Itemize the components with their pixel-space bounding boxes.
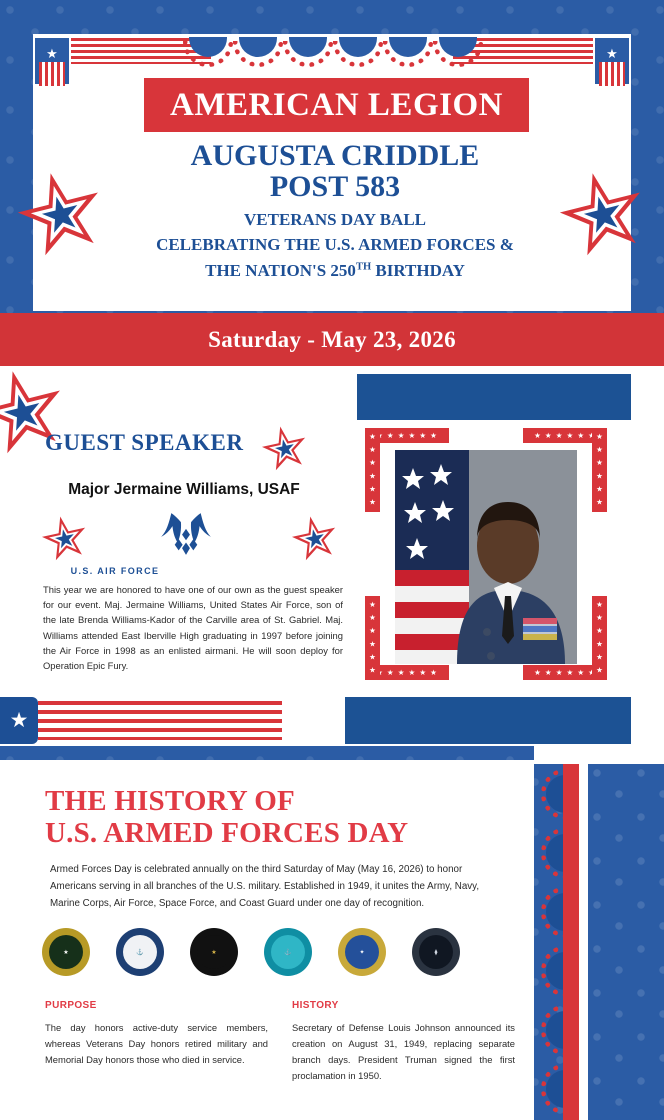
event-name: VETERANS DAY BALL bbox=[100, 207, 570, 233]
decorative-star-small-1 bbox=[258, 422, 313, 477]
air-force-caption: U.S. AIR FORCE bbox=[50, 566, 180, 576]
navy-seal-icon: ⚓ bbox=[116, 928, 164, 976]
purpose-body: The day honors active-duty service membe… bbox=[45, 1020, 268, 1068]
event-subtitle-1: CELEBRATING THE U.S. ARMED FORCES & bbox=[100, 232, 570, 258]
marine-corps-seal-icon: ★ bbox=[190, 928, 238, 976]
post-name-line1: AUGUSTA CRIDDLE bbox=[100, 140, 570, 171]
speaker-biography: This year we are honored to have one of … bbox=[43, 582, 343, 673]
speaker-photo-frame: ★ ★ ★ ★ ★ ★ ★ ★ ★ ★ ★ ★ ★ ★ ★ ★ ★ ★ ★ ★ … bbox=[365, 428, 607, 680]
history-columns: PURPOSE The day honors active-duty servi… bbox=[45, 1000, 515, 1084]
history-body-text: Armed Forces Day is celebrated annually … bbox=[50, 862, 505, 913]
speaker-portrait-photo bbox=[395, 450, 577, 664]
history-col-body: Secretary of Defense Louis Johnson annou… bbox=[292, 1020, 515, 1084]
vertical-white-stripe bbox=[579, 764, 588, 1120]
bunting-swag bbox=[383, 37, 433, 71]
frame-stars-right-top: ★ ★ ★ ★ ★ ★ bbox=[592, 428, 607, 512]
vertical-star-panel bbox=[588, 764, 664, 1120]
us-air-force-logo-icon bbox=[152, 512, 220, 556]
event-date-banner: Saturday - May 23, 2026 bbox=[0, 313, 664, 366]
bunting-corner-right: ★ bbox=[595, 38, 629, 84]
star-icon: ★ bbox=[46, 47, 58, 60]
event-subtitle-2: THE NATION'S 250TH BIRTHDAY bbox=[100, 258, 570, 284]
bunting-swag bbox=[233, 37, 283, 71]
flag-stripe-decoration: ★ bbox=[0, 697, 282, 744]
vertical-red-stripe bbox=[563, 764, 579, 1120]
flag-canton-star-icon: ★ bbox=[0, 697, 38, 744]
purpose-heading: PURPOSE bbox=[45, 1000, 268, 1011]
space-force-seal-icon: ⧫ bbox=[412, 928, 460, 976]
blue-accent-bar-bottom bbox=[345, 697, 631, 744]
bunting-swag bbox=[183, 37, 233, 71]
decorative-star-small-2 bbox=[38, 512, 93, 567]
bottom-panel-top-strip bbox=[534, 746, 664, 764]
history-title-line1: THE HISTORY OF bbox=[45, 786, 495, 818]
bunting-corner-left: ★ bbox=[35, 38, 69, 84]
bunting-swags bbox=[183, 37, 483, 71]
speaker-name: Major Jermaine Williams, USAF bbox=[34, 481, 334, 499]
frame-stars-right-bottom: ★ ★ ★ ★ ★ ★ bbox=[592, 596, 607, 680]
history-col-heading: HISTORY bbox=[292, 1000, 515, 1011]
frame-stars-left-bottom: ★ ★ ★ ★ ★ ★ bbox=[365, 596, 380, 680]
purpose-column: PURPOSE The day honors active-duty servi… bbox=[45, 1000, 268, 1084]
post-name-line2: POST 583 bbox=[100, 171, 570, 203]
history-section-title: THE HISTORY OF U.S. ARMED FORCES DAY bbox=[45, 786, 495, 850]
frame-stars-left-top: ★ ★ ★ ★ ★ ★ bbox=[365, 428, 380, 512]
service-seals-row: ★ ⚓ ★ ⚓ ✦ ⧫ bbox=[42, 928, 512, 976]
history-title-line2: U.S. ARMED FORCES DAY bbox=[45, 818, 495, 850]
guest-speaker-heading: GUEST SPEAKER bbox=[45, 430, 243, 456]
star-icon: ★ bbox=[606, 47, 618, 60]
organization-banner: AMERICAN LEGION bbox=[144, 78, 529, 132]
post-title-block: AUGUSTA CRIDDLE POST 583 VETERANS DAY BA… bbox=[100, 140, 570, 283]
decorative-star-small-3 bbox=[288, 512, 343, 567]
air-force-seal-icon: ✦ bbox=[338, 928, 386, 976]
flag-stripes bbox=[38, 701, 282, 740]
bunting-corner-bars bbox=[599, 62, 625, 86]
organization-title: AMERICAN LEGION bbox=[170, 87, 503, 124]
event-date-text: Saturday - May 23, 2026 bbox=[208, 327, 456, 353]
bunting-corner-bars bbox=[39, 62, 65, 86]
army-seal-icon: ★ bbox=[42, 928, 90, 976]
bunting-swag bbox=[283, 37, 333, 71]
flyer-page: ★ ★ AMERICAN LEGION AUGUSTA CRIDDLE POST… bbox=[0, 0, 664, 1120]
coast-guard-seal-icon: ⚓ bbox=[264, 928, 312, 976]
history-column: HISTORY Secretary of Defense Louis Johns… bbox=[292, 1000, 515, 1084]
bunting-swag bbox=[433, 37, 483, 71]
bunting-swag bbox=[333, 37, 383, 71]
blue-accent-bar-top bbox=[357, 374, 631, 420]
